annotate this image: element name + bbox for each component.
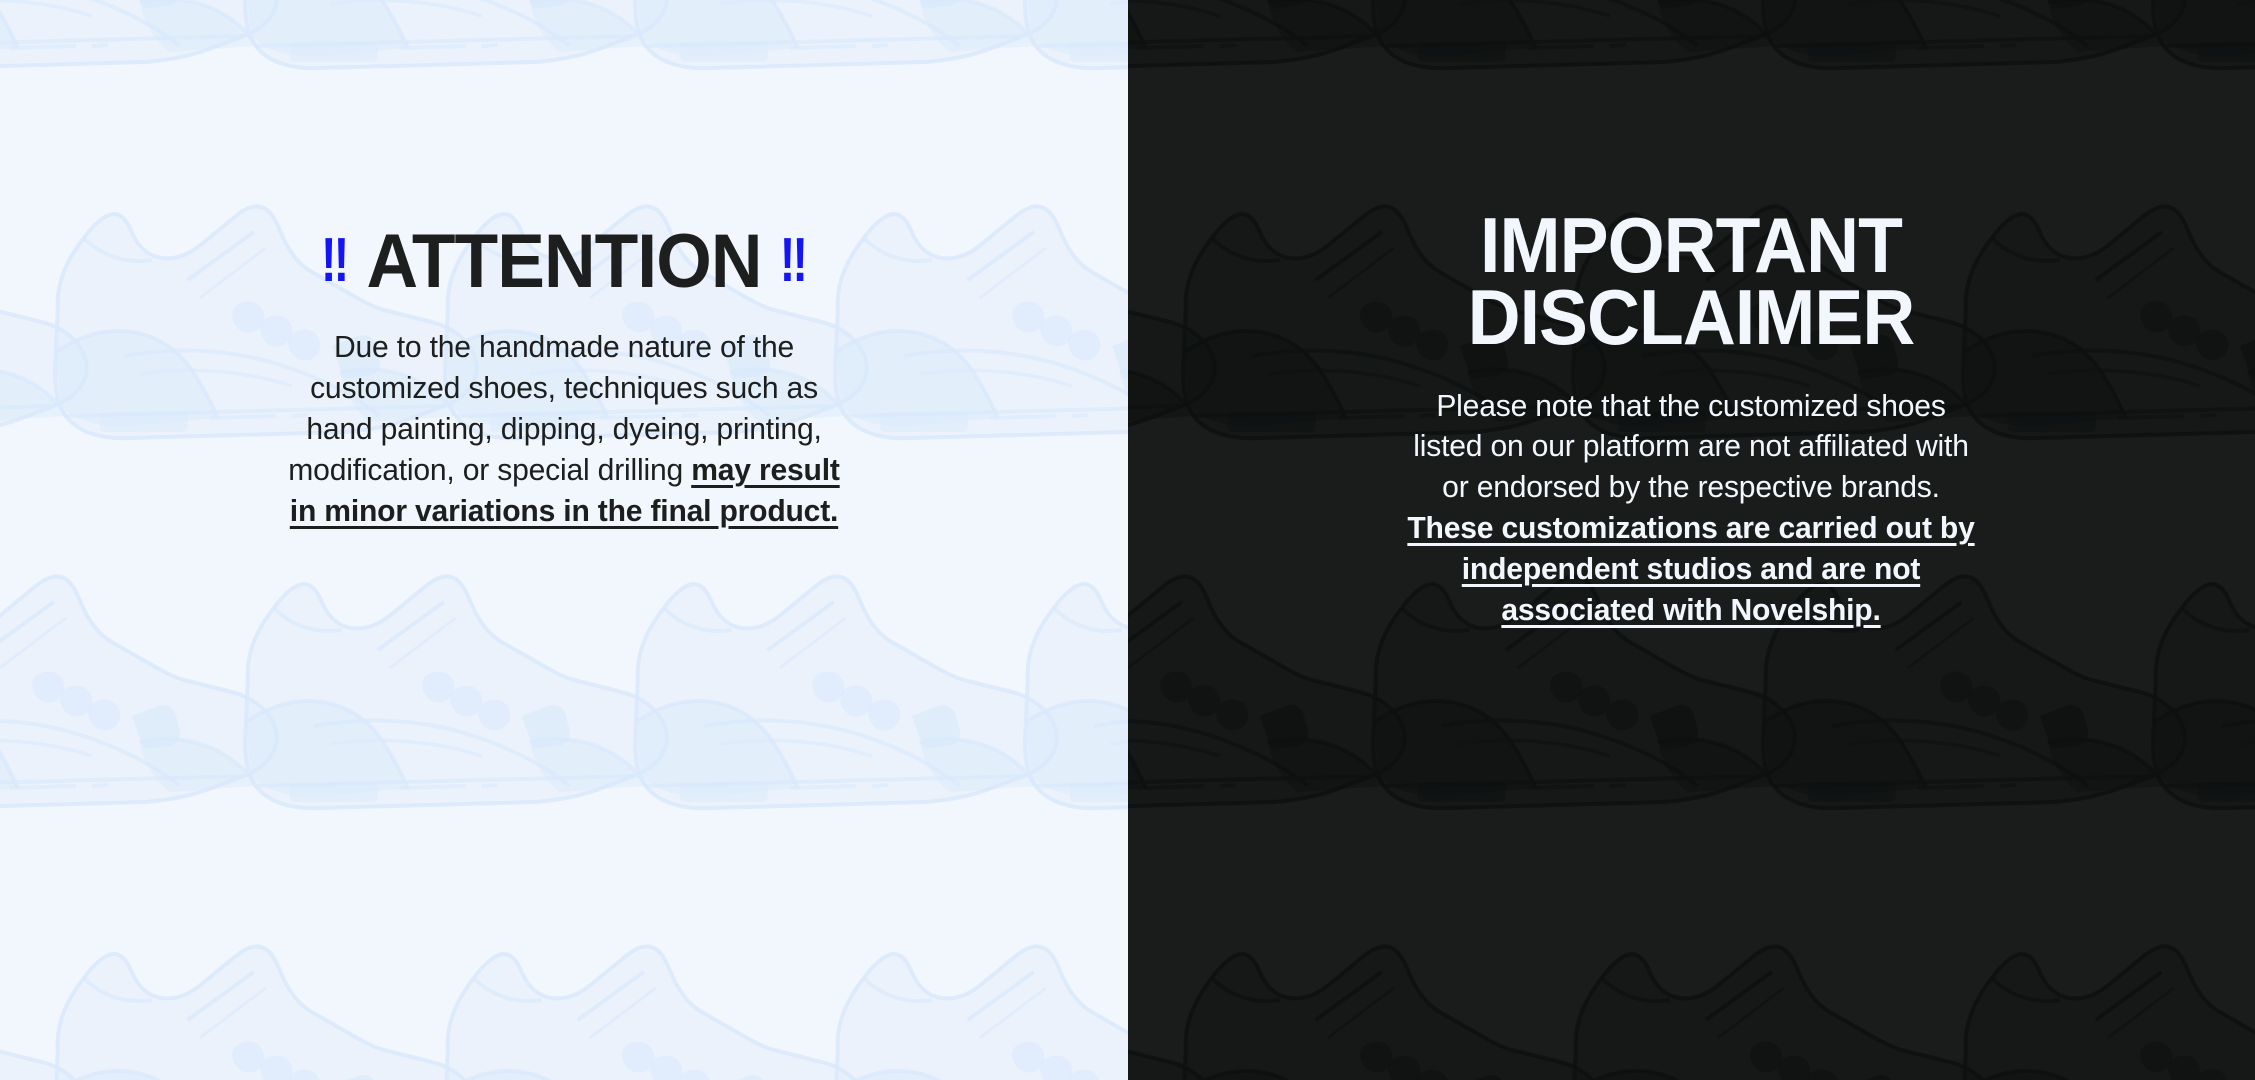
double-exclamation-icon-left: ‼ (321, 232, 348, 291)
double-exclamation-icon-right: ‼ (780, 232, 807, 291)
attention-headline-text: ATTENTION (366, 219, 761, 304)
disclaimer-content: IMPORTANTDISCLAIMER Please note that the… (1331, 210, 2051, 631)
disclaimer-body-lead: Please note that the customized shoes li… (1414, 388, 1969, 505)
disclaimer-body-emphasis: These customizations are carried out by … (1408, 510, 1975, 627)
attention-panel: ‼ATTENTION‼ Due to the handmade nature o… (0, 0, 1128, 1080)
attention-body: Due to the handmade nature of the custom… (273, 327, 855, 532)
disclaimer-panel: IMPORTANTDISCLAIMER Please note that the… (1128, 0, 2255, 1080)
disclaimer-body: Please note that the customized shoes li… (1400, 386, 1982, 631)
disclaimer-headline: IMPORTANTDISCLAIMER (1353, 210, 2030, 354)
attention-content: ‼ATTENTION‼ Due to the handmade nature o… (204, 226, 924, 532)
attention-headline: ‼ATTENTION‼ (225, 226, 902, 298)
disclaimer-banner: ‼ATTENTION‼ Due to the handmade nature o… (0, 0, 2255, 1080)
disclaimer-headline-line-2: DISCLAIMER (1468, 273, 1915, 361)
sneaker-pattern-light (0, 0, 1128, 1080)
